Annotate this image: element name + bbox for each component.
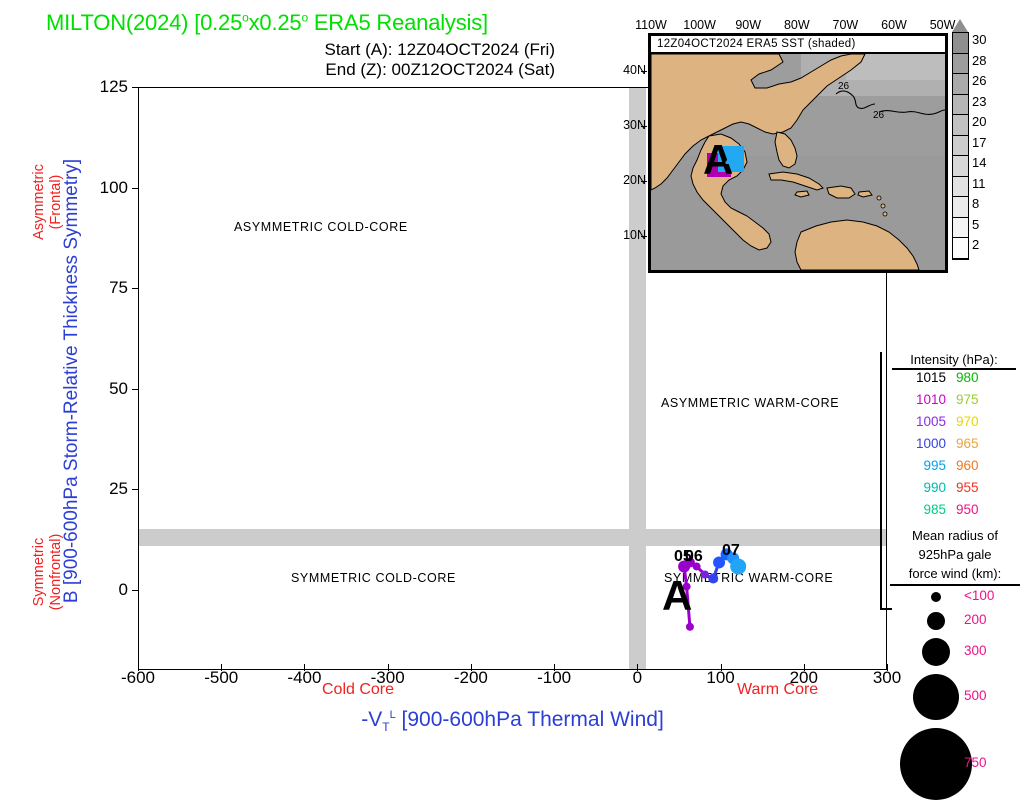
x-tick-label--500: -500 (186, 668, 256, 688)
radius-dot-300 (922, 638, 950, 666)
colorbar-label-11: 11 (972, 177, 986, 190)
map-lat-tick-30N (641, 126, 647, 127)
radius-label-500: 500 (964, 688, 987, 703)
x-tick-mark-0 (637, 664, 638, 671)
track-point-6[interactable] (708, 574, 718, 584)
radius-row: 200 (886, 608, 1024, 634)
title-storm: MILTON(2024) [0.25 (46, 10, 242, 35)
colorbar-segment-26 (953, 74, 968, 95)
intensity-row: 1005970 (886, 414, 1024, 436)
intensity-value-1000: 1000 (888, 436, 946, 451)
intensity-value-955: 955 (956, 480, 1006, 495)
colorbar-label-8: 8 (972, 197, 979, 210)
radius-dot-750 (900, 728, 972, 800)
y-tick-label-75: 75 (72, 278, 128, 298)
map-header-label: 12Z04OCT2024 ERA5 SST (shaded) (651, 36, 945, 54)
map-lat-label-30N: 30N (612, 118, 646, 132)
x-tick-label-200: 200 (769, 668, 839, 688)
intensity-legend-title: Intensity (hPa): (892, 352, 1016, 370)
x-tick-mark-100 (721, 664, 722, 671)
y-tick-mark-25 (132, 489, 139, 490)
intensity-value-980: 980 (956, 370, 1006, 385)
y-tick-mark-125 (132, 87, 139, 88)
colorbar-gradient (952, 32, 969, 260)
colorbar-arrow-top (952, 19, 968, 32)
intensity-value-950: 950 (956, 502, 1006, 517)
colorbar-label-5: 5 (972, 218, 979, 231)
colorbar-segment-11 (953, 177, 968, 198)
y-axis-top-annotation: Asymmetric (Frontal) (31, 122, 65, 282)
svg-text:26: 26 (873, 110, 885, 121)
radius-row: 300 (886, 634, 1024, 670)
radius-caption-l2: 925hPa gale (918, 547, 991, 562)
x-title-pre: -V (361, 708, 382, 731)
radius-legend-caption: Mean radius of 925hPa gale force wind (k… (886, 526, 1024, 583)
x-tick-mark--400 (304, 664, 305, 671)
page-title: MILTON(2024) [0.25ox0.25o ERA5 Reanalysi… (46, 10, 488, 36)
start-time-label: Start (A): 12Z04OCT2024 (Fri) (35, 40, 555, 60)
legend-panel: Intensity (hPa): 10159801010975100597010… (886, 352, 1024, 804)
colorbar-segment-17 (953, 136, 968, 157)
map-lat-tick-10N (641, 236, 647, 237)
x-title-post: [900-600hPa Thermal Wind] (396, 708, 664, 731)
intensity-value-1010: 1010 (888, 392, 946, 407)
x-tick-label--400: -400 (269, 668, 339, 688)
y-tick-mark-50 (132, 389, 139, 390)
x-tick-mark--500 (221, 664, 222, 671)
x-tick-label--600: -600 (103, 668, 173, 688)
y-annot-asym-l1: Asymmetric (31, 164, 47, 240)
track-day-label-06: 06 (685, 548, 703, 566)
colorbar-label-23: 23 (972, 95, 986, 108)
track-start-marker-A: A (662, 575, 692, 617)
track-point-0[interactable] (686, 623, 694, 631)
colorbar-segment-14 (953, 156, 968, 177)
intensity-value-1005: 1005 (888, 414, 946, 429)
y-tick-label-125: 125 (72, 77, 128, 97)
y-axis-bottom-annotation: Symmetric (Nonfrontal) (31, 492, 65, 652)
map-lon-label-60W: 60W (871, 18, 917, 32)
intensity-value-970: 970 (956, 414, 1006, 429)
y-annot-sym-l2: (Nonfrontal) (48, 534, 64, 611)
intensity-value-995: 995 (888, 458, 946, 473)
map-lon-label-80W: 80W (774, 18, 820, 32)
map-storm-marker-Z: Z (725, 148, 737, 168)
title-storm-end: ERA5 Reanalysis] (308, 10, 488, 35)
map-lat-label-10N: 10N (612, 228, 646, 242)
x-tick-mark--600 (138, 664, 139, 671)
radius-label-200: 200 (964, 612, 987, 627)
y-tick-mark-75 (132, 288, 139, 289)
radius-row: <100 (886, 586, 1024, 608)
colorbar-label-20: 20 (972, 115, 986, 128)
svg-text:26: 26 (838, 81, 850, 92)
intensity-row: 1015980 (886, 370, 1024, 392)
y-tick-mark-100 (132, 188, 139, 189)
map-lon-label-90W: 90W (725, 18, 771, 32)
x-tick-mark--100 (554, 664, 555, 671)
colorbar-label-28: 28 (972, 54, 986, 67)
track-day-label-07: 07 (722, 542, 740, 560)
map-canvas[interactable]: 26 26 A Z (648, 33, 948, 273)
colorbar-label-26: 26 (972, 74, 986, 87)
map-graphics: 26 26 (651, 36, 945, 270)
radius-dot-500 (913, 674, 959, 720)
intensity-value-975: 975 (956, 392, 1006, 407)
x-tick-label-100: 100 (686, 668, 756, 688)
colorbar-label-30: 30 (972, 33, 986, 46)
inset-sst-map[interactable]: 26 26 A Z 12Z04OCT2024 ERA5 SST (shaded) (648, 33, 948, 273)
intensity-value-965: 965 (956, 436, 1006, 451)
x-tick-label--100: -100 (519, 668, 589, 688)
radius-label-300: 300 (964, 643, 987, 658)
colorbar-segment-2 (953, 238, 968, 259)
x-title-sub: T (382, 720, 389, 734)
radius-legend-rows: <100200300500750 (886, 586, 1024, 804)
y-tick-label-50: 50 (72, 379, 128, 399)
y-annot-asym-l2: (Frontal) (48, 175, 64, 230)
colorbar-label-17: 17 (972, 136, 986, 149)
radius-caption-l3: force wind (km): (909, 566, 1001, 581)
colorbar-segment-8 (953, 197, 968, 218)
intensity-row: 990955 (886, 480, 1024, 502)
track-point-5[interactable] (701, 571, 709, 579)
colorbar-arrow-bottom (952, 261, 968, 274)
map-lon-label-70W: 70W (822, 18, 868, 32)
intensity-row: 1010975 (886, 392, 1024, 414)
x-tick-mark--200 (471, 664, 472, 671)
y-tick-label-0: 0 (72, 580, 128, 600)
x-tick-label--300: -300 (353, 668, 423, 688)
colorbar-segment-23 (953, 95, 968, 116)
radius-row: 750 (886, 724, 1024, 804)
y-tick-mark-0 (132, 590, 139, 591)
map-lon-label-100W: 100W (677, 18, 723, 32)
title-storm-mid: x0.25 (249, 10, 302, 35)
x-tick-mark--300 (388, 664, 389, 671)
map-lat-label-20N: 20N (612, 173, 646, 187)
colorbar-label-2: 2 (972, 238, 979, 251)
colorbar-segment-28 (953, 54, 968, 75)
intensity-value-985: 985 (888, 502, 946, 517)
intensity-row: 985950 (886, 502, 1024, 524)
radius-row: 500 (886, 670, 1024, 724)
radius-label-<100: <100 (964, 588, 994, 603)
intensity-row: 995960 (886, 458, 1024, 480)
x-tick-label-0: 0 (602, 668, 672, 688)
colorbar-segment-20 (953, 115, 968, 136)
legend-divider-vertical (880, 352, 882, 610)
x-axis-title: -VTL [900-600hPa Thermal Wind] (140, 708, 885, 734)
x-tick-label--200: -200 (436, 668, 506, 688)
colorbar-label-14: 14 (972, 156, 986, 169)
radius-caption-l1: Mean radius of (912, 528, 998, 543)
map-lon-label-110W: 110W (628, 18, 674, 32)
x-tick-mark-200 (804, 664, 805, 671)
intensity-row: 1000965 (886, 436, 1024, 458)
intensity-value-960: 960 (956, 458, 1006, 473)
track-point-10[interactable] (730, 558, 746, 574)
sst-colorbar: 3028262320171411852 (952, 18, 1022, 280)
colorbar-segment-5 (953, 218, 968, 239)
y-tick-label-25: 25 (72, 479, 128, 499)
map-lat-tick-20N (641, 181, 647, 182)
intensity-legend-rows: 1015980101097510059701000965995960990955… (886, 370, 1024, 524)
map-lat-tick-40N (641, 71, 647, 72)
colorbar-segment-30 (953, 33, 968, 54)
intensity-value-1015: 1015 (888, 370, 946, 385)
radius-dot-200 (927, 612, 945, 630)
map-lat-label-40N: 40N (612, 63, 646, 77)
radius-dot-<100 (931, 592, 941, 602)
y-tick-label-100: 100 (72, 178, 128, 198)
y-annot-sym-l1: Symmetric (31, 538, 47, 606)
intensity-value-990: 990 (888, 480, 946, 495)
